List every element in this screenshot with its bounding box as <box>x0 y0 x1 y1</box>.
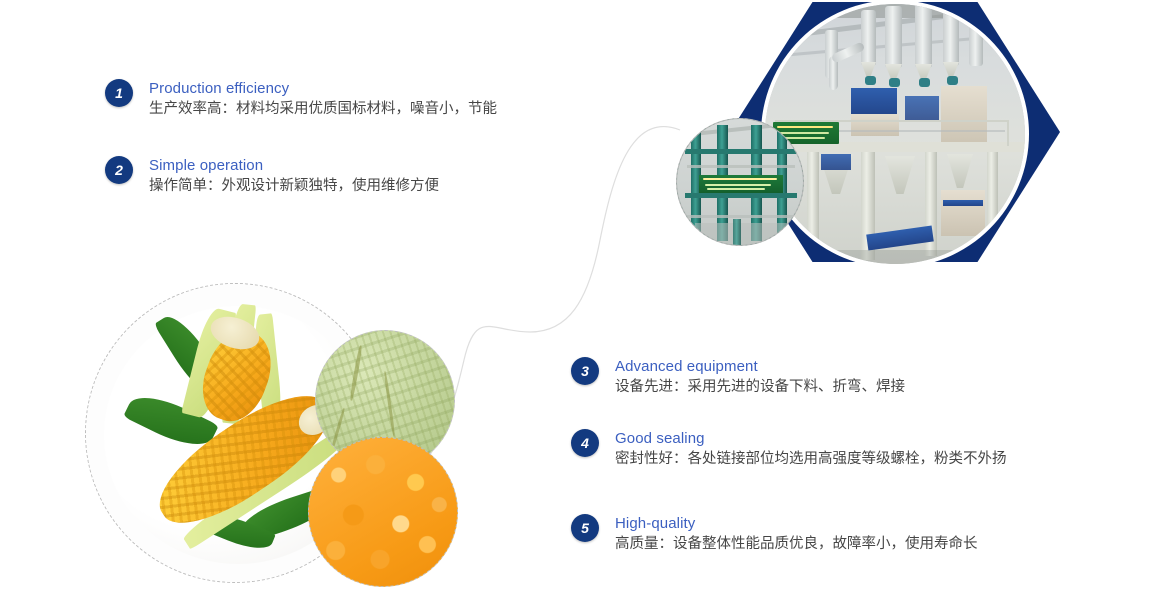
feature-description-3: 设备先进：采用先进的设备下料、折弯、焊接 <box>615 376 905 398</box>
feature-badge-1: 1 <box>105 79 133 107</box>
feature-badge-2: 2 <box>105 156 133 184</box>
small-plant-photo <box>676 118 804 246</box>
feature-description-2: 操作简单：外观设计新颖独特，使用维修方便 <box>149 175 439 197</box>
feature-title-5: High-quality <box>615 514 978 533</box>
feature-title-4: Good sealing <box>615 429 1007 448</box>
feature-item-3: 3 Advanced equipment 设备先进：采用先进的设备下料、折弯、焊… <box>571 357 905 398</box>
corn-grits-photo <box>308 437 458 587</box>
feature-description-4: 密封性好：各处链接部位均选用高强度等级螺栓，粉类不外扬 <box>615 448 1007 470</box>
feature-title-2: Simple operation <box>149 156 439 175</box>
feature-badge-5: 5 <box>571 514 599 542</box>
main-plant-photo <box>765 4 1025 264</box>
feature-badge-3: 3 <box>571 357 599 385</box>
feature-item-1: 1 Production efficiency 生产效率高：材料均采用优质国标材… <box>105 79 497 120</box>
feature-title-1: Production efficiency <box>149 79 497 98</box>
feature-description-1: 生产效率高：材料均采用优质国标材料，噪音小，节能 <box>149 98 497 120</box>
feature-item-2: 2 Simple operation 操作简单：外观设计新颖独特，使用维修方便 <box>105 156 439 197</box>
feature-highlights-page: 1 Production efficiency 生产效率高：材料均采用优质国标材… <box>0 0 1154 591</box>
feature-title-3: Advanced equipment <box>615 357 905 376</box>
feature-item-5: 5 High-quality 高质量：设备整体性能品质优良，故障率小，使用寿命长 <box>571 514 978 555</box>
feature-description-5: 高质量：设备整体性能品质优良，故障率小，使用寿命长 <box>615 533 978 555</box>
feature-badge-4: 4 <box>571 429 599 457</box>
feature-item-4: 4 Good sealing 密封性好：各处链接部位均选用高强度等级螺栓，粉类不… <box>571 429 1007 470</box>
